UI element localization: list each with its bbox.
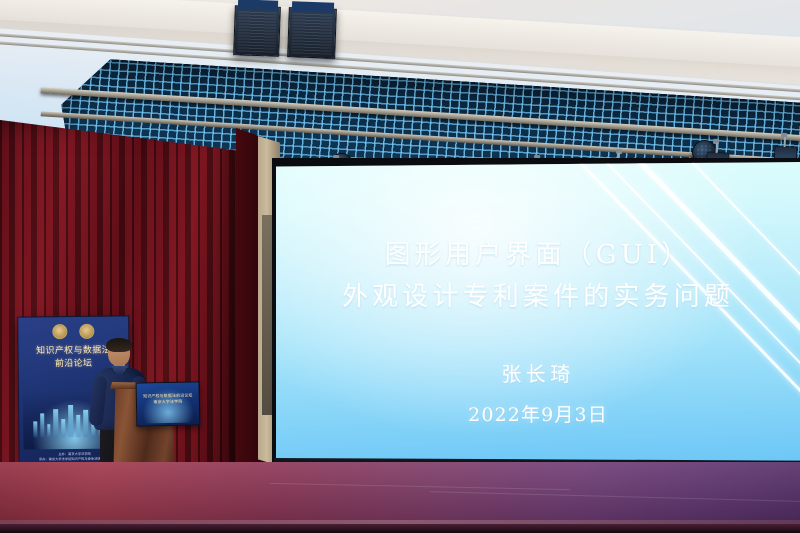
stage-front-face (0, 524, 800, 533)
skyline-building (47, 424, 50, 437)
ceiling-speaker-left (233, 5, 281, 57)
skyline-building (76, 415, 80, 437)
skyline-building (40, 413, 44, 437)
slide-date: 2022年9月3日 (276, 400, 800, 427)
conference-hall-photo: 图形用户界面（GUI） 外观设计专利案件的实务问题 张长琦 2022年9月3日 … (0, 0, 800, 533)
slide-title-line-2: 外观设计专利案件的实务问题 (276, 276, 800, 313)
skyline-building (33, 421, 37, 437)
speaker-grille (237, 9, 276, 52)
banner-logo-row (18, 323, 128, 339)
university-logo-icon-2 (79, 324, 94, 339)
skyline-building (53, 409, 58, 437)
slide-title-line-1: 图形用户界面（GUI） (276, 234, 800, 271)
speaker-yoke-left (238, 0, 278, 11)
skyline-building (83, 410, 88, 437)
speaker-grille (291, 11, 332, 54)
speaker-yoke-right (292, 1, 334, 12)
ceiling-speaker-right (287, 7, 337, 59)
led-screen: 图形用户界面（GUI） 外观设计专利案件的实务问题 张长琦 2022年9月3日 (276, 162, 800, 466)
university-logo-icon-1 (52, 324, 67, 339)
lectern-monitor: 知识产权与数据法前沿论坛 南京大学法学院 (136, 381, 201, 426)
skyline-building (68, 405, 73, 437)
lectern-monitor-text: 知识产权与数据法前沿论坛 南京大学法学院 (137, 392, 199, 405)
person-hair (106, 338, 132, 352)
slide-presenter-name: 张长琦 (276, 358, 800, 387)
skyline-building (61, 419, 65, 437)
